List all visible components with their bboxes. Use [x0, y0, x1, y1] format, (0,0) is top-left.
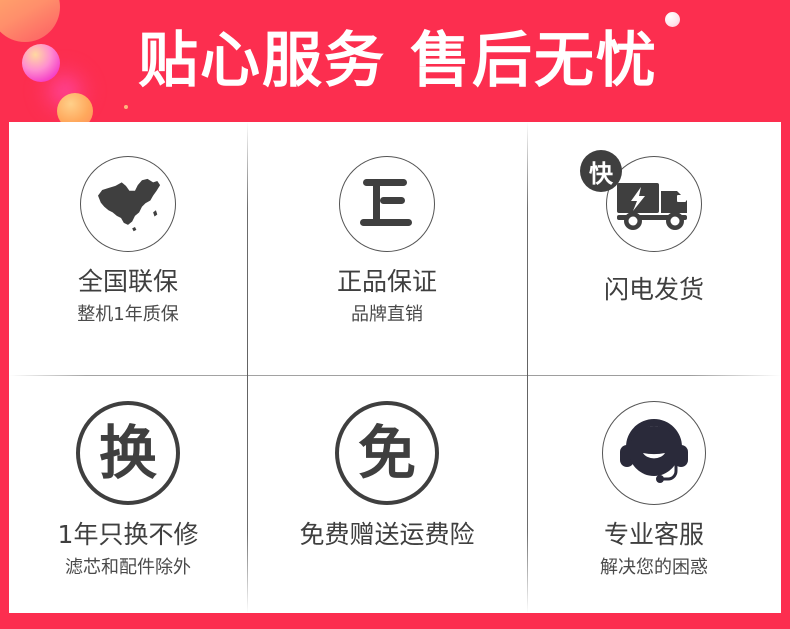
- mian-character-icon: 免: [358, 424, 416, 482]
- huan-character-icon-wrapper: 换: [76, 401, 180, 505]
- headline-part-left: 贴心服务: [138, 26, 386, 96]
- feature-cell-free-shipping-insurance: 免 免费赠送运费险: [247, 375, 527, 613]
- china-map-icon-wrapper: [80, 156, 176, 252]
- page-title: 贴心服务售后无忧: [132, 31, 658, 91]
- headline-part-right: 售后无忧: [410, 26, 658, 96]
- feature-cell-replace-not-repair: 换 1年只换不修 滤芯和配件除外: [9, 375, 247, 613]
- feature-cell-professional-support: 专业客服 解决您的困惑: [527, 375, 781, 613]
- zheng-character-icon-wrapper: [339, 156, 435, 252]
- feature-title: 正品保证: [337, 266, 437, 297]
- lightning-truck-icon-wrapper: 快: [606, 156, 702, 252]
- feature-title: 专业客服: [604, 519, 704, 550]
- feature-subtitle: 滤芯和配件除外: [65, 557, 191, 580]
- mian-character-icon-wrapper: 免: [335, 401, 439, 505]
- fast-badge: 快: [580, 150, 622, 192]
- feature-title: 全国联保: [78, 266, 178, 297]
- feature-subtitle: 解决您的困惑: [600, 557, 708, 580]
- feature-title: 闪电发货: [604, 274, 704, 305]
- feature-subtitle: 整机1年质保: [77, 304, 178, 327]
- feature-subtitle: 品牌直销: [351, 304, 423, 327]
- headset-support-icon-wrapper: [602, 401, 706, 505]
- icon-ring: [602, 401, 706, 505]
- feature-cell-lightning-shipping: 快 闪电发货: [527, 122, 781, 375]
- feature-cell-national-warranty: 全国联保 整机1年质保: [9, 122, 247, 375]
- feature-cell-authentic-guarantee: 正品保证 品牌直销: [247, 122, 527, 375]
- feature-panel: 全国联保 整机1年质保 正品保证: [9, 122, 781, 613]
- banner-header: 贴心服务售后无忧: [0, 0, 790, 122]
- huan-character-icon: 换: [99, 424, 157, 482]
- feature-title: 免费赠送运费险: [299, 519, 474, 550]
- service-guarantee-banner: 贴心服务售后无忧 全国联保 整机1年质保: [0, 0, 790, 629]
- feature-grid: 全国联保 整机1年质保 正品保证: [9, 122, 781, 613]
- icon-ring: [80, 156, 176, 252]
- feature-title: 1年只换不修: [58, 519, 199, 550]
- icon-ring: [339, 156, 435, 252]
